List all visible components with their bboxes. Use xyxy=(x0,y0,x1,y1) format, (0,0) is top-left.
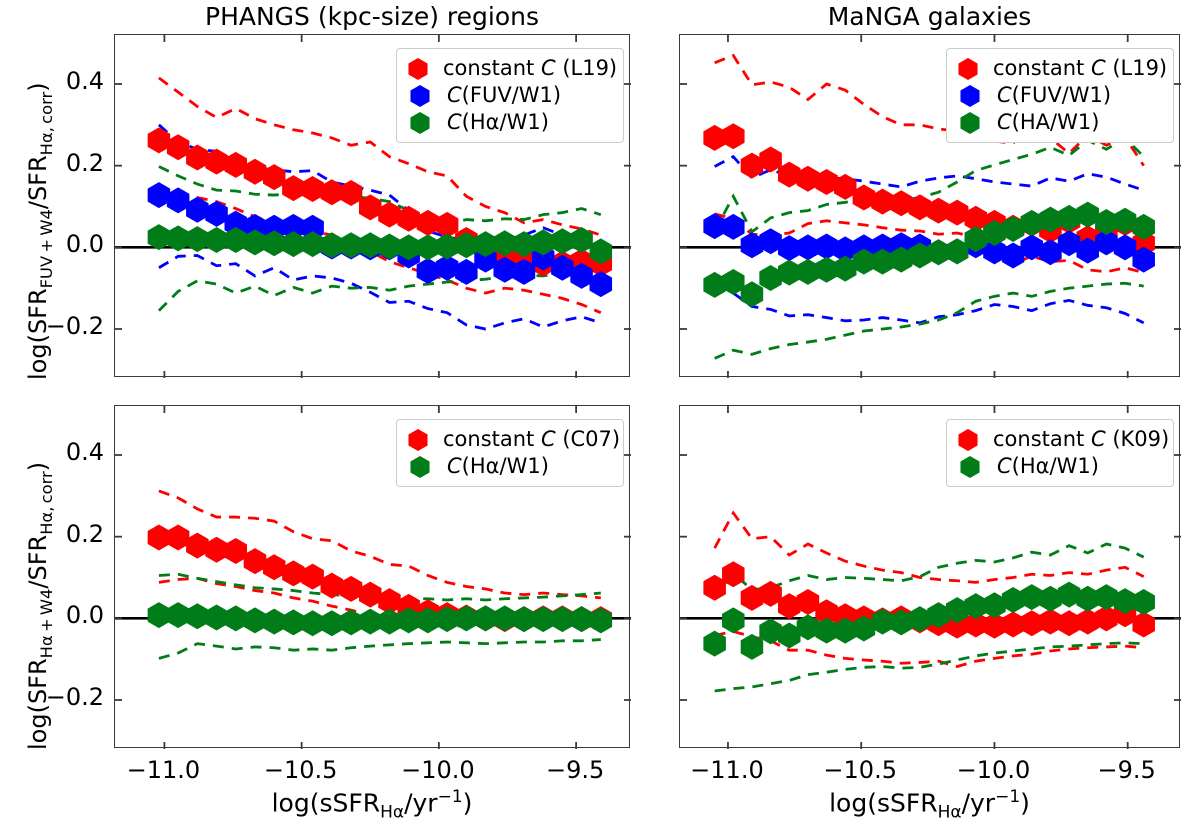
data-point-marker xyxy=(474,605,497,631)
legend-label: C(Hα/W1) xyxy=(447,112,549,133)
data-point-marker xyxy=(301,610,324,636)
y-tick-label: −0.2 xyxy=(10,683,104,711)
legend-label: constant C (C07) xyxy=(443,429,620,450)
scatter-envelope-lower xyxy=(715,283,1144,358)
scatter-envelope-lower xyxy=(715,287,1144,323)
data-point-marker xyxy=(167,524,190,550)
legend-item[interactable]: constant C (K09) xyxy=(955,426,1163,453)
data-point-marker xyxy=(244,159,267,185)
legend-label: C(HA/W1) xyxy=(997,112,1099,133)
legend-label: C(FUV/W1) xyxy=(447,85,561,106)
panel-title-left: PHANGS (kpc-size) regions xyxy=(114,2,630,31)
y-tick-label: −0.2 xyxy=(10,312,104,340)
data-point-marker xyxy=(244,548,267,574)
data-point-marker xyxy=(225,605,248,631)
data-point-marker xyxy=(282,175,305,201)
xlabel-left: log(sSFRHα/yr−1) xyxy=(114,787,630,822)
data-point-marker xyxy=(167,187,190,213)
legend-top-right: constant C (L19)C(FUV/W1)C(HA/W1) xyxy=(946,48,1174,143)
data-point-marker xyxy=(301,176,324,202)
data-point-marker xyxy=(205,149,228,175)
data-point-marker xyxy=(417,258,440,284)
y-tick-label: 0.2 xyxy=(10,149,104,177)
data-point-marker xyxy=(225,152,248,178)
data-point-marker xyxy=(359,582,382,608)
legend-hexagon-icon xyxy=(405,454,435,480)
legend-item[interactable]: C(Hα/W1) xyxy=(405,109,613,136)
data-point-marker xyxy=(148,524,171,550)
legend-hexagon-icon xyxy=(405,427,431,453)
x-tick-label: −11.0 xyxy=(103,756,223,784)
x-tick-label: −9.5 xyxy=(515,756,635,784)
legend-label: constant C (L19) xyxy=(443,58,617,79)
data-point-marker xyxy=(225,538,248,564)
data-point-marker xyxy=(722,123,745,149)
legend-item[interactable]: constant C (L19) xyxy=(955,55,1163,82)
data-point-marker xyxy=(205,537,228,563)
legend-item[interactable]: C(Hα/W1) xyxy=(955,453,1163,480)
data-point-marker xyxy=(205,605,228,631)
data-point-marker xyxy=(417,234,440,260)
data-point-marker xyxy=(722,607,745,633)
data-point-marker xyxy=(455,259,478,285)
legend-label: C(Hα/W1) xyxy=(447,456,549,477)
data-point-marker xyxy=(340,609,363,635)
data-point-marker xyxy=(244,607,267,633)
data-point-marker xyxy=(378,609,401,635)
x-tick-label: −9.5 xyxy=(1067,756,1187,784)
legend-hexagon-icon xyxy=(955,110,985,136)
data-point-marker xyxy=(186,603,209,629)
y-tick-label: 0.0 xyxy=(10,601,104,629)
legend-hexagon-icon xyxy=(405,56,431,82)
scatter-envelope-lower xyxy=(715,643,1144,691)
data-point-marker xyxy=(148,602,171,628)
data-point-marker xyxy=(282,560,305,586)
data-point-marker xyxy=(186,533,209,559)
legend-bottom-left: constant C (C07)C(Hα/W1) xyxy=(396,419,624,487)
x-tick-label: −11.0 xyxy=(667,756,787,784)
legend-item[interactable]: constant C (C07) xyxy=(405,426,613,453)
legend-hexagon-icon xyxy=(405,110,435,136)
legend-label: constant C (L19) xyxy=(993,58,1167,79)
legend-item[interactable]: C(FUV/W1) xyxy=(405,82,613,109)
data-point-marker xyxy=(263,554,286,580)
data-point-marker xyxy=(397,206,420,232)
data-point-marker xyxy=(378,202,401,228)
xlabel-right: log(sSFRHα/yr−1) xyxy=(679,787,1180,822)
data-point-marker xyxy=(590,271,613,297)
x-tick-label: −10.0 xyxy=(378,756,498,784)
figure-canvas: PHANGS (kpc-size) regions MaNGA galaxies… xyxy=(0,0,1200,830)
x-tick-label: −10.0 xyxy=(933,756,1053,784)
legend-hexagon-icon xyxy=(955,83,985,109)
data-point-marker xyxy=(551,228,574,254)
legend-label: C(FUV/W1) xyxy=(997,85,1111,106)
legend-top-left: constant C (L19)C(FUV/W1)C(Hα/W1) xyxy=(396,48,624,143)
legend-label: constant C (K09) xyxy=(993,429,1169,450)
data-point-marker xyxy=(340,576,363,602)
legend-item[interactable]: constant C (L19) xyxy=(405,55,613,82)
y-tick-label: 0.4 xyxy=(10,67,104,95)
data-point-marker xyxy=(359,609,382,635)
legend-label: C(Hα/W1) xyxy=(997,456,1099,477)
x-tick-label: −10.5 xyxy=(800,756,920,784)
data-point-marker xyxy=(570,606,593,632)
data-point-marker xyxy=(186,145,209,171)
data-point-marker xyxy=(263,609,286,635)
legend-hexagon-icon xyxy=(955,427,981,453)
data-point-marker xyxy=(513,606,536,632)
legend-item[interactable]: C(FUV/W1) xyxy=(955,82,1163,109)
data-point-marker xyxy=(186,197,209,223)
legend-hexagon-icon xyxy=(405,83,435,109)
data-point-marker xyxy=(321,573,344,599)
legend-item[interactable]: C(Hα/W1) xyxy=(405,453,613,480)
legend-hexagon-icon xyxy=(955,56,981,82)
panel-title-right: MaNGA galaxies xyxy=(679,2,1180,31)
y-tick-label: 0.2 xyxy=(10,520,104,548)
data-point-marker xyxy=(282,609,305,635)
data-point-marker xyxy=(205,227,228,253)
y-tick-label: 0.4 xyxy=(10,438,104,466)
data-point-marker xyxy=(167,602,190,628)
legend-bottom-right: constant C (K09)C(Hα/W1) xyxy=(946,419,1174,487)
scatter-envelope-lower xyxy=(159,640,601,659)
data-point-marker xyxy=(321,610,344,636)
x-tick-label: −10.5 xyxy=(241,756,361,784)
data-point-marker xyxy=(148,182,171,208)
data-point-marker xyxy=(417,210,440,236)
data-point-marker xyxy=(167,134,190,160)
data-point-marker xyxy=(722,214,745,240)
legend-item[interactable]: C(HA/W1) xyxy=(955,109,1163,136)
y-tick-label: 0.0 xyxy=(10,230,104,258)
legend-hexagon-icon xyxy=(955,454,985,480)
data-point-marker xyxy=(301,564,324,590)
